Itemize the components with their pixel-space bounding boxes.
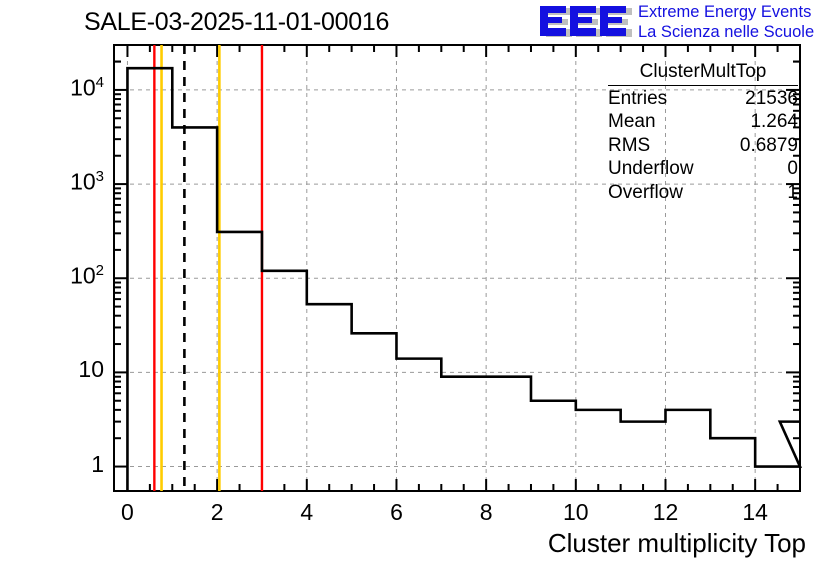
x-tick-label-6: 6 [366,499,426,526]
stats-box-title: ClusterMultTop [608,60,798,86]
stats-box-rows: Entries21536Mean1.264RMS0.6879Underflow0… [608,87,798,205]
x-axis-title: Cluster multiplicity Top [548,528,806,559]
y-tick-label-0: 1 [34,451,104,478]
x-tick-label-14: 14 [725,499,785,526]
stats-label: Mean [608,110,656,134]
y-tick-label-4: 104 [34,74,104,102]
marker-lines [154,45,262,491]
stats-box: ClusterMultTop Entries21536Mean1.264RMS0… [608,60,798,204]
stats-row-overflow: Overflow1 [608,181,798,205]
x-tick-label-2: 2 [187,499,247,526]
y-tick-label-2: 102 [34,262,104,290]
stats-row-underflow: Underflow0 [608,157,798,181]
stats-value: 1.264 [750,110,798,134]
y-tick-label-3: 103 [34,168,104,196]
stats-value: 21536 [745,87,798,111]
stats-row-mean: Mean1.264 [608,110,798,134]
stats-label: RMS [608,134,650,158]
stats-label: Overflow [608,181,683,205]
stats-value: 1 [787,181,798,205]
stats-label: Underflow [608,157,694,181]
x-tick-label-0: 0 [97,499,157,526]
stats-value: 0.6879 [740,134,798,158]
x-tick-label-10: 10 [546,499,606,526]
x-tick-label-12: 12 [635,499,695,526]
stats-row-entries: Entries21536 [608,87,798,111]
stats-label: Entries [608,87,667,111]
stats-row-rms: RMS0.6879 [608,134,798,158]
stats-value: 0 [787,157,798,181]
root-canvas: { "title": "SALE-03-2025-11-01-00016", "… [0,0,836,572]
x-tick-label-4: 4 [277,499,337,526]
x-tick-label-8: 8 [456,499,516,526]
y-tick-label-1: 10 [34,356,104,383]
